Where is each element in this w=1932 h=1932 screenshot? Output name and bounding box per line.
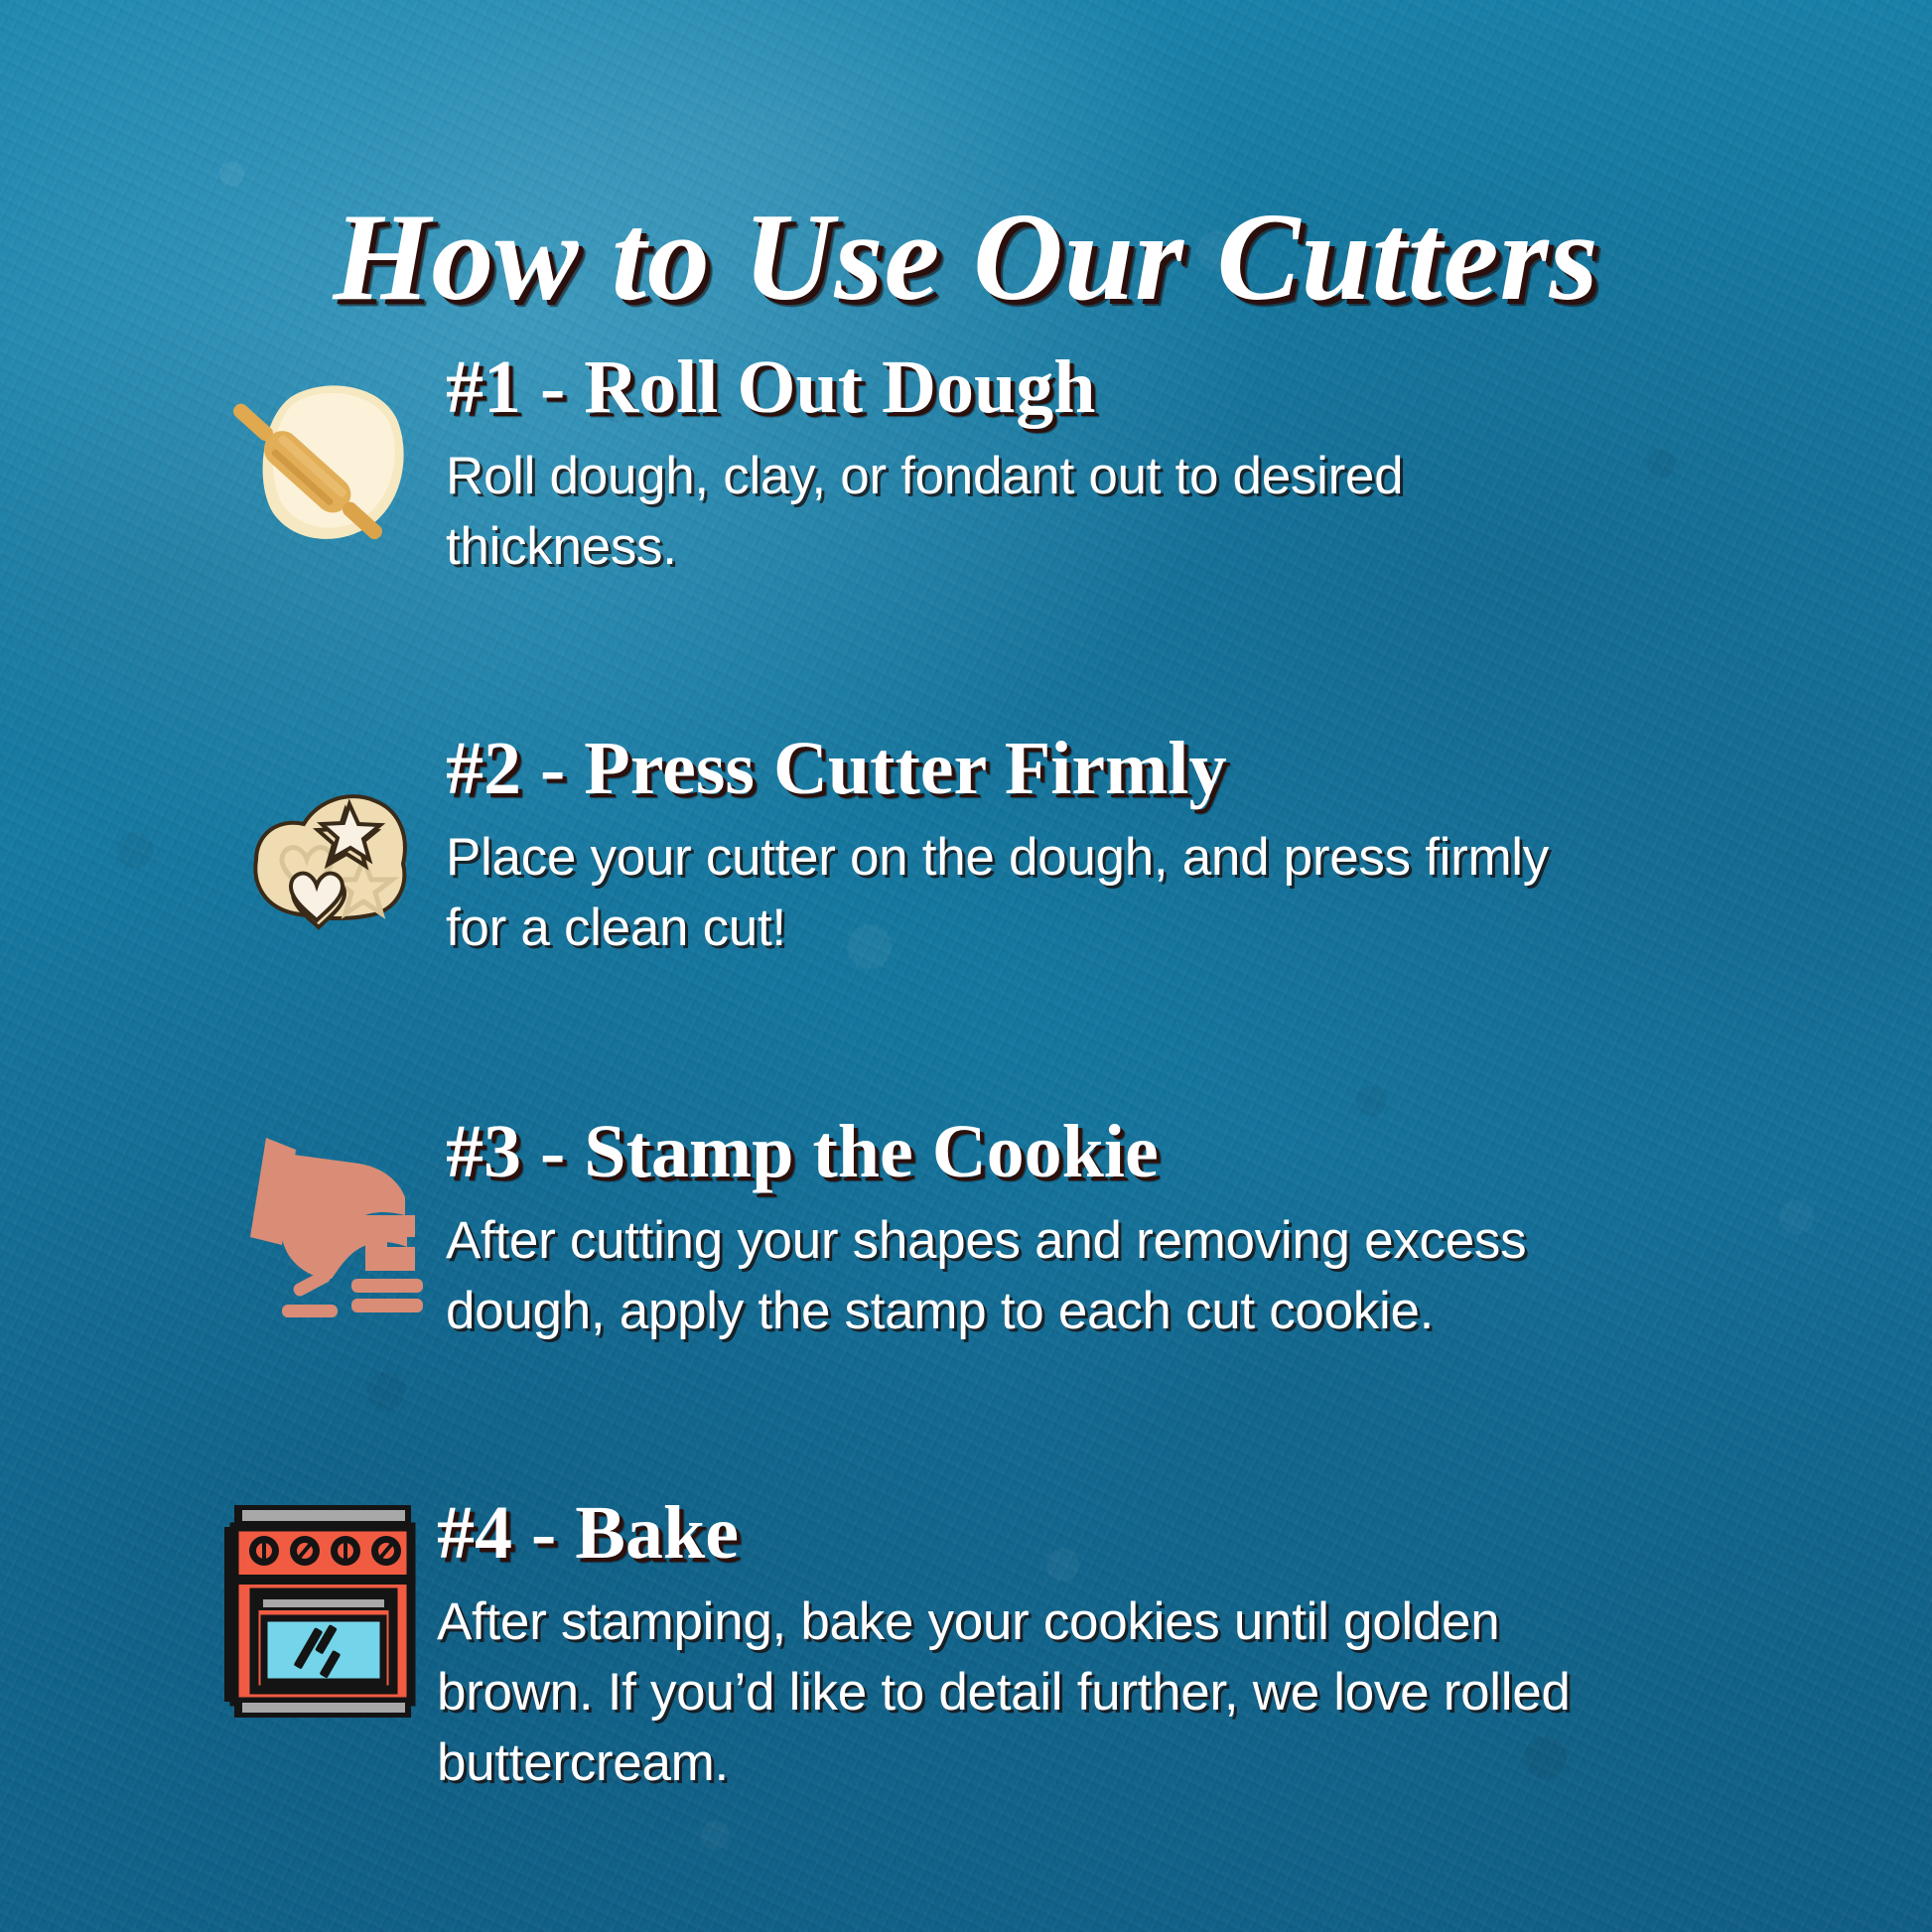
oven-icon: [220, 1501, 415, 1729]
step-body: Place your cutter on the dough, and pres…: [446, 822, 1597, 963]
infographic-poster: How to Use Our Cutters: [0, 0, 1932, 1932]
step-heading: #4 - Bake: [437, 1495, 1588, 1571]
step-body: After cutting your shapes and removing e…: [446, 1205, 1597, 1346]
step-body: Roll dough, clay, or fondant out to desi…: [446, 441, 1597, 582]
step-text: #3 - Stamp the Cookie After cutting your…: [424, 1114, 1597, 1346]
step-body: After stamping, bake your cookies until …: [437, 1587, 1588, 1798]
step-heading: #2 - Press Cutter Firmly: [446, 731, 1597, 806]
step-text: #1 - Roll Out Dough Roll dough, clay, or…: [424, 349, 1597, 582]
page-title: How to Use Our Cutters: [0, 191, 1932, 326]
list-item: #3 - Stamp the Cookie After cutting your…: [0, 1114, 1932, 1346]
step-text: #2 - Press Cutter Firmly Place your cutt…: [424, 731, 1597, 963]
step-heading: #3 - Stamp the Cookie: [446, 1114, 1597, 1189]
hand-stamping-icon: [220, 1120, 424, 1323]
step-text: #4 - Bake After stamping, bake your cook…: [415, 1495, 1588, 1798]
list-item: #1 - Roll Out Dough Roll dough, clay, or…: [0, 349, 1932, 582]
step-heading: #1 - Roll Out Dough: [446, 349, 1597, 425]
list-item: #2 - Press Cutter Firmly Place your cutt…: [0, 731, 1932, 963]
rolling-pin-dough-icon: [220, 367, 424, 571]
steps-list: #1 - Roll Out Dough Roll dough, clay, or…: [0, 349, 1932, 1798]
dough-with-cutters-icon: [220, 757, 424, 960]
list-item: #4 - Bake After stamping, bake your cook…: [0, 1495, 1932, 1798]
